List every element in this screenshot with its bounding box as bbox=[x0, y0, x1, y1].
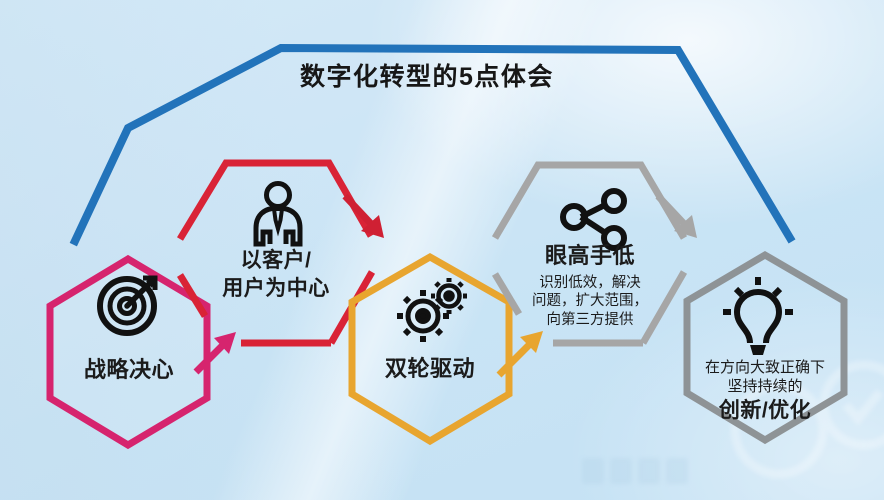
hexagon-bigline-customer-centric-1: 以客户/ bbox=[215, 249, 337, 273]
hexagon-subline-high-eye-low-hand-3: 向第三方提供 bbox=[512, 311, 668, 330]
arrow-4-to-5 bbox=[658, 196, 697, 238]
hexagon-label-high-eye-low-hand: 眼高手低 识别低效，解决 问题，扩大范围， 向第三方提供 bbox=[512, 244, 668, 329]
hexagon-shape-innovation-optimization bbox=[687, 255, 844, 440]
page-title: 数字化转型的5点体会 bbox=[300, 57, 554, 93]
hexagon-shape-customer-centric bbox=[180, 163, 372, 343]
hexagon-shape-strategy-resolve bbox=[50, 259, 207, 445]
hexagon-title-strategy-resolve: 战略决心 bbox=[58, 358, 200, 383]
arrow-2-to-3 bbox=[345, 196, 384, 238]
hexagon-shape-high-eye-low-hand bbox=[495, 165, 684, 343]
background-watermark bbox=[564, 310, 884, 500]
hexagon-subline-high-eye-low-hand-2: 问题，扩大范围， bbox=[512, 292, 668, 311]
slide-canvas: 数字化转型的5点体会 战略决心 以客户/ 用户为中心 双轮驱动 眼高手低 识别低… bbox=[0, 0, 884, 500]
gears-icon bbox=[397, 278, 467, 342]
hexagon-label-strategy-resolve: 战略决心 bbox=[58, 358, 200, 383]
hexagon-subline-innovation-1: 在方向大致正确下 bbox=[681, 358, 849, 377]
user-person-icon bbox=[256, 184, 300, 245]
hexagon-label-dual-wheel-drive: 双轮驱动 bbox=[359, 357, 501, 382]
hexagon-bigline-customer-centric-2: 用户为中心 bbox=[215, 277, 337, 301]
target-icon bbox=[100, 278, 155, 333]
hexagon-subline-high-eye-low-hand-1: 识别低效，解决 bbox=[512, 274, 668, 293]
hexagon-label-innovation-optimization: 在方向大致正确下 坚持持续的 创新/优化 bbox=[681, 358, 849, 423]
hexagon-title-high-eye-low-hand: 眼高手低 bbox=[512, 244, 668, 269]
arrow-1-to-2 bbox=[196, 332, 236, 372]
hexagon-bigline-innovation-1: 创新/优化 bbox=[681, 399, 849, 423]
lightbulb-icon bbox=[723, 277, 793, 355]
hexagon-label-customer-centric: 以客户/ 用户为中心 bbox=[215, 249, 337, 300]
hexagon-subline-innovation-2: 坚持持续的 bbox=[681, 377, 849, 396]
hexagon-title-dual-wheel-drive: 双轮驱动 bbox=[359, 357, 501, 382]
share-network-icon bbox=[563, 191, 624, 248]
hexagon-shape-dual-wheel-drive bbox=[352, 257, 509, 441]
arrow-3-to-4 bbox=[499, 331, 543, 375]
